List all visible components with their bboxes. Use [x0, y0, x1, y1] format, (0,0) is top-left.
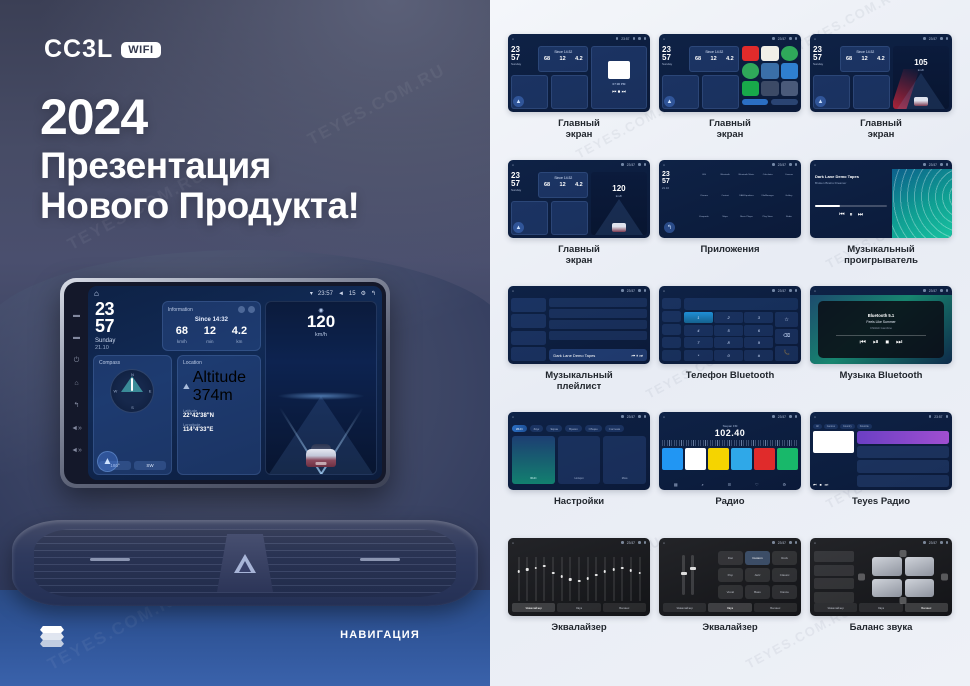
- settings-icon[interactable]: ⚙: [361, 290, 366, 297]
- gallery-item[interactable]: ⌂ 23:57 23 57 21.10: [659, 160, 801, 280]
- preset-jazz[interactable]: Jazz: [745, 568, 770, 582]
- mini-clock-minutes: 57: [662, 178, 670, 185]
- station-row[interactable]: [857, 431, 949, 444]
- card-hotspot[interactable]: Hotspot: [558, 436, 601, 484]
- gallery-item[interactable]: ⌂ 23:57 Bluetooth 5.1 Feels Like Summer …: [810, 286, 952, 406]
- thumb-body: 23 57 Sunday Since 14:32 68 12: [659, 43, 801, 112]
- mini-media-controls: ⏮ ⏹ ⏭: [612, 89, 626, 95]
- navigation-arrow-icon: ▲: [513, 222, 524, 233]
- mini-information-card: Since 14:32 68 12 4.2: [689, 46, 739, 72]
- app-label: Bluetooth Music: [737, 174, 755, 176]
- caption-line1: Главный: [558, 118, 600, 129]
- play-pause-icon[interactable]: ⏯: [873, 339, 879, 347]
- mini-location-card: [551, 75, 588, 109]
- home-icon: ⌂: [512, 415, 514, 419]
- bt-playback-controls[interactable]: ⏮ ⏯ ⏹ ⏭: [860, 339, 903, 347]
- logo-text: CC3L: [44, 35, 113, 64]
- eq-footer-tabs[interactable]: Эквалайзер Звук Баланс: [512, 603, 646, 612]
- settings-icon: [638, 163, 641, 166]
- mini-home: 23 57 Sunday Since 14:32 68 12: [508, 169, 650, 238]
- mini-stat-3: 4.2: [877, 56, 885, 62]
- preset-rock[interactable]: Rock: [772, 551, 797, 565]
- preset-flat[interactable]: Flat: [718, 551, 743, 565]
- expand-icon[interactable]: [248, 306, 255, 313]
- thumbnail-home-apps[interactable]: ⌂ 23:57 23 57: [659, 34, 801, 112]
- gallery-item[interactable]: ⌂ 23:57 Stepan FM 102.40: [659, 412, 801, 532]
- tab-equalizer[interactable]: Эквалайзер: [663, 603, 706, 612]
- home-icon: ⌂: [814, 541, 816, 545]
- next-icon[interactable]: ⏭: [858, 212, 863, 219]
- thumb-body: Эквалайзер Звук Баланс: [508, 547, 650, 616]
- caption-line2: проигрыватель: [844, 255, 918, 266]
- home-icon[interactable]: ⌂: [94, 289, 99, 298]
- thumbnail-home-speed[interactable]: ⌂ 23:57 23 57: [508, 160, 650, 238]
- tab-system[interactable]: Система: [605, 425, 624, 432]
- tab-sound[interactable]: Звук: [708, 603, 751, 612]
- tab-all[interactable]: All: [813, 424, 822, 429]
- home-icon: ⌂: [663, 541, 665, 545]
- band-icon[interactable]: ▦: [674, 482, 678, 487]
- thumb-time: 23:57: [627, 541, 635, 545]
- wifi-icon: [923, 163, 926, 166]
- stat-distance: 4.2 km: [232, 326, 247, 344]
- gallery-item[interactable]: ⌂ 23:57 Dark Lane Demo Tapes Broken Brai…: [810, 160, 952, 280]
- thumbnail-sound-balance[interactable]: ⌂ 23:57: [810, 538, 952, 616]
- sidebar-item-search[interactable]: [662, 324, 681, 335]
- back-icon: [946, 541, 949, 544]
- seat-rear-right[interactable]: [905, 579, 934, 598]
- thumb-status-bar: ⌂ 23:57: [508, 412, 650, 421]
- now-playing-bar[interactable]: Dark Lane Demo Tapes ⏮ ⏸ ⏭: [549, 349, 647, 361]
- navigation-arrow-icon[interactable]: ▲: [97, 451, 118, 472]
- app-label: Wifi: [695, 174, 713, 176]
- eq-band[interactable]: [636, 557, 643, 601]
- tab-sound[interactable]: Звук: [859, 603, 902, 612]
- preset-station[interactable]: [662, 448, 683, 470]
- tab-equalizer[interactable]: Эквалайзер: [814, 603, 857, 612]
- plus-key-icon[interactable]: ▬: [73, 334, 80, 341]
- key-1[interactable]: 1: [684, 312, 713, 323]
- list-icon[interactable]: ☰: [728, 482, 732, 487]
- home-screen-content: 23 57 Sunday 21.10 Information: [88, 301, 382, 480]
- stop-icon[interactable]: ⏹: [886, 339, 890, 347]
- eq-preset-buttons[interactable]: Flat Custom Rock Pop Jazz Classic Vocal …: [718, 551, 797, 599]
- app-label: Radio: [780, 216, 798, 218]
- tab-time[interactable]: Время: [565, 425, 581, 432]
- tab-countries[interactable]: Country: [840, 424, 855, 429]
- preset-bass[interactable]: Bass: [745, 585, 770, 599]
- key-6[interactable]: 6: [744, 325, 773, 336]
- track-row[interactable]: [549, 331, 647, 340]
- balance-left-button[interactable]: [858, 574, 865, 581]
- previous-icon[interactable]: ⏮: [813, 482, 817, 487]
- thumbnail-radio[interactable]: ⌂ 23:57 Stepan FM 102.40: [659, 412, 801, 490]
- thumbnail-apps[interactable]: ⌂ 23:57 23 57 21.10: [659, 160, 801, 238]
- back-icon: ↰: [664, 222, 675, 233]
- hazard-triangle-icon: [234, 554, 256, 573]
- preset-station[interactable]: [708, 448, 729, 470]
- eq-band[interactable]: [575, 557, 582, 601]
- gallery-item[interactable]: ⌂ 23:57 Wi-Fi Звук Экран Время: [508, 412, 650, 532]
- eq-band[interactable]: [550, 557, 557, 601]
- thumb-body: 23 57 Sunday Since 14:32 68 12: [508, 43, 650, 112]
- mini-home: 23 57 Sunday Since 14:32 68 12: [810, 43, 952, 112]
- eq-band[interactable]: [601, 557, 608, 601]
- seat-front-left[interactable]: [872, 557, 901, 576]
- wifi-icon: [616, 37, 619, 40]
- radio-tuning-scale[interactable]: [662, 440, 798, 446]
- caption-line1: Эквалайзер: [702, 622, 757, 633]
- preset-center[interactable]: [814, 592, 854, 603]
- tab-general[interactable]: Общие: [585, 425, 602, 432]
- thumbnail-playlist[interactable]: ⌂ 23:57: [508, 286, 650, 364]
- home-icon: ⌂: [663, 163, 665, 167]
- eq-slider-right[interactable]: [691, 555, 694, 595]
- bt-progress-bar[interactable]: [836, 335, 927, 336]
- sidebar-item-settings[interactable]: [662, 350, 681, 361]
- key-4[interactable]: 4: [684, 325, 713, 336]
- settings-icon: [638, 541, 641, 544]
- preset-front[interactable]: [814, 551, 854, 562]
- mini-stat-2: 12: [560, 182, 566, 188]
- sidebar-item-dialpad[interactable]: [662, 298, 681, 309]
- preset-rear[interactable]: [814, 565, 854, 576]
- favorite-icon[interactable]: ☆: [775, 312, 798, 327]
- thumb-status-bar: ⌂ 23:57: [810, 538, 952, 547]
- back-key-icon[interactable]: ↰: [74, 402, 80, 409]
- track-row[interactable]: [549, 309, 647, 318]
- stat-distance-unit: km: [232, 339, 247, 344]
- speed-panel[interactable]: ◉ 120 km/h: [265, 301, 377, 475]
- gallery-caption: Музыка Bluetooth: [840, 370, 923, 381]
- key-5[interactable]: 5: [714, 325, 743, 336]
- thumb-body: Wi-Fi Звук Экран Время Общие Система Wi-…: [508, 421, 650, 490]
- mini-music-player: Dark Lane Demo Tapes Broken Brains Dream…: [810, 169, 952, 238]
- information-card-actions[interactable]: [238, 306, 255, 313]
- thumbnail-home-speed-red[interactable]: ⌂ 23:57 23 57: [810, 34, 952, 112]
- gallery-item[interactable]: ⌂ 23:57 23: [508, 34, 650, 154]
- key-0[interactable]: 0: [714, 350, 743, 361]
- card-wifi[interactable]: Wi-Fi: [512, 436, 555, 484]
- station-row[interactable]: [857, 460, 949, 473]
- location-card[interactable]: Location ⛰ Altitude 374m: [177, 355, 261, 475]
- car-license-plate: [316, 462, 327, 465]
- bt-track-artist: Childish Gambino: [870, 326, 892, 330]
- playback-controls[interactable]: ⏮ ⏸ ⏭: [632, 353, 643, 358]
- progress-bar[interactable]: [815, 205, 887, 207]
- previous-icon[interactable]: ⏮: [839, 212, 844, 219]
- app-label: Chrome: [695, 195, 713, 197]
- wifi-icon: [929, 415, 932, 418]
- eq-band[interactable]: [627, 557, 634, 601]
- balance-up-button[interactable]: [900, 550, 907, 557]
- app-label: Play Store: [759, 216, 777, 218]
- power-key-icon[interactable]: ⏻: [74, 357, 80, 364]
- back-icon: [644, 415, 647, 418]
- eq-band[interactable]: [515, 557, 522, 601]
- caption-line1: Баланс звука: [850, 622, 913, 633]
- eq-band[interactable]: [558, 557, 565, 601]
- head-unit-screen[interactable]: ⌂ ▾ 23:57 ◄ 15 ⚙ ↰ 23: [88, 286, 382, 480]
- home-icon: ⌂: [814, 415, 816, 419]
- bt-music-card: Bluetooth 5.1 Feels Like Summer Childish…: [818, 301, 944, 358]
- gallery-caption: Музыкальный плейлист: [545, 370, 613, 392]
- playback-controls[interactable]: ⏮ ⏸ ⏭: [815, 212, 887, 219]
- balance-field[interactable]: [858, 551, 948, 603]
- settings-icon: [940, 541, 943, 544]
- key-8[interactable]: 8: [714, 337, 743, 348]
- screens-gallery: TEYES.COM.RU TEYES.COM.RU TEYES.COM.RU T…: [490, 0, 970, 686]
- thumb-body: Bluetooth 5.1 Feels Like Summer Childish…: [810, 295, 952, 364]
- key-hash[interactable]: #: [744, 350, 773, 361]
- eq-footer-tabs[interactable]: Эквалайзер Звук Баланс: [663, 603, 797, 612]
- preset-station[interactable]: [731, 448, 752, 470]
- gallery-caption: Музыкальный проигрыватель: [844, 244, 918, 266]
- mini-media-widget: 07:30 PM ⏮ ⏹ ⏭: [591, 46, 647, 109]
- eq-band[interactable]: [567, 557, 574, 601]
- back-icon[interactable]: ↰: [371, 290, 376, 297]
- gallery-item[interactable]: ⌂ 23:57: [508, 286, 650, 406]
- eq-preset-main: Flat Custom Rock Pop Jazz Classic Vocal …: [663, 551, 797, 599]
- radio-toolbar[interactable]: ▦ ⌕ ☰ ♡ ⚙: [662, 482, 798, 487]
- minus-key-icon[interactable]: ▬: [73, 312, 80, 319]
- thumb-time: 23:57: [778, 541, 786, 545]
- preset-classic[interactable]: Classic: [772, 568, 797, 582]
- thumbnail-settings[interactable]: ⌂ 23:57 Wi-Fi Звук Экран Время: [508, 412, 650, 490]
- mini-clock: 23 57 Sunday: [662, 46, 687, 72]
- thumbnail-teyes-radio[interactable]: ⌂ 23:57 All Genres Country Favorite: [810, 412, 952, 490]
- tab-sound[interactable]: Звук: [530, 425, 544, 432]
- mini-equalizer-bands: Эквалайзер Звук Баланс: [508, 547, 650, 616]
- sidebar-item[interactable]: [511, 298, 546, 312]
- back-icon: [644, 541, 647, 544]
- key-3[interactable]: 3: [744, 312, 773, 323]
- next-icon[interactable]: ⏭: [825, 482, 829, 487]
- tab-display[interactable]: Экран: [546, 425, 562, 432]
- gallery-grid: ⌂ 23:57 23: [508, 34, 952, 658]
- balance-presets[interactable]: [814, 551, 854, 603]
- speed-value: 120: [266, 313, 376, 330]
- settings-icon[interactable]: ⚙: [782, 482, 786, 487]
- thumbnail-home-media[interactable]: ⌂ 23:57 23: [508, 34, 650, 112]
- search-icon[interactable]: ⌕: [702, 482, 704, 487]
- eq-band[interactable]: [532, 557, 539, 601]
- thumb-time: 23:57: [778, 163, 786, 167]
- gallery-item[interactable]: ⌂ 23:57 23 57: [810, 34, 952, 154]
- wifi-icon: [772, 541, 775, 544]
- gallery-item[interactable]: ⌂ 23:57: [659, 286, 801, 406]
- preset-custom[interactable]: Custom: [745, 551, 770, 565]
- balance-right-button[interactable]: [941, 574, 948, 581]
- app-icon: [761, 63, 778, 78]
- tab-sound[interactable]: Звук: [557, 603, 600, 612]
- eq-level-sliders[interactable]: [663, 551, 714, 599]
- balance-main: [814, 551, 948, 603]
- thumb-status-bar: ⌂ 23:57: [659, 286, 801, 295]
- eq-band-sliders[interactable]: [512, 551, 646, 603]
- head-unit-side-keys[interactable]: ▬ ▬ ⏻ ⌂ ↰ ◄» ◄»: [68, 286, 85, 480]
- thumbnail-equalizer-bands[interactable]: ⌂ 23:57: [508, 538, 650, 616]
- gallery-item[interactable]: ⌂ 23:57 All Genres Country Favorite: [810, 412, 952, 532]
- thumb-body: Dark Lane Demo Tapes Broken Brains Dream…: [810, 169, 952, 238]
- caption-line1: Эквалайзер: [551, 622, 606, 633]
- thumb-status-bar: ⌂ 23:57: [508, 34, 650, 43]
- thumb-body: Flat Custom Rock Pop Jazz Classic Vocal …: [659, 547, 801, 616]
- eq-band[interactable]: [619, 557, 626, 601]
- mini-speed-panel: 105 km/h: [893, 46, 949, 109]
- playlist-sidebar[interactable]: [511, 298, 546, 361]
- station-list[interactable]: [857, 431, 949, 487]
- eq-band[interactable]: [541, 557, 548, 601]
- preset-dance[interactable]: Dance: [772, 585, 797, 599]
- playlist-tracks[interactable]: Dark Lane Demo Tapes ⏮ ⏸ ⏭: [549, 298, 647, 361]
- app-label: FileManager: [759, 195, 777, 197]
- call-icon[interactable]: 📞: [775, 346, 798, 361]
- sidebar-item[interactable]: [511, 314, 546, 328]
- track-artist: Broken Brains Dreamer: [815, 181, 887, 185]
- key-9[interactable]: 9: [744, 337, 773, 348]
- preset-pop[interactable]: Pop: [718, 568, 743, 582]
- tab-genres[interactable]: Genres: [824, 424, 838, 429]
- settings-icon: [789, 415, 792, 418]
- dialpad-keys[interactable]: 1 2 3 4 5 6 7 8 9 *: [684, 312, 773, 361]
- eq-band[interactable]: [584, 557, 591, 601]
- gallery-item[interactable]: ⌂ 23:57: [508, 538, 650, 658]
- pause-icon[interactable]: ⏸: [850, 212, 853, 219]
- eq-band[interactable]: [610, 557, 617, 601]
- key-2[interactable]: 2: [714, 312, 743, 323]
- mini-app-shortcuts: [742, 46, 798, 109]
- thumb-time: 23:57: [929, 163, 937, 167]
- gallery-item[interactable]: ⌂ 23:57 23 57: [659, 34, 801, 154]
- dialpad-actions[interactable]: ☆ ⌫ 📞: [775, 312, 798, 361]
- mini-information-card: Since 14:32 68 12 4.2: [840, 46, 890, 72]
- thumbnail-music-player[interactable]: ⌂ 23:57 Dark Lane Demo Tapes Broken Brai…: [810, 160, 952, 238]
- thumbnail-equalizer-presets[interactable]: ⌂ 23:57: [659, 538, 801, 616]
- balance-down-button[interactable]: [900, 597, 907, 604]
- altitude-value: 374m: [193, 387, 246, 405]
- gallery-item[interactable]: ⌂ 23:57: [810, 538, 952, 658]
- layers-icon-bottom: [40, 640, 64, 647]
- preset-station[interactable]: [777, 448, 798, 470]
- vol-down-key-icon[interactable]: ◄»: [71, 425, 82, 432]
- key-7[interactable]: 7: [684, 337, 713, 348]
- hero-footer-label: НАВИГАЦИЯ: [340, 629, 420, 641]
- eq-band[interactable]: [593, 557, 600, 601]
- caption-line1: Главный: [558, 244, 600, 255]
- seat-rear-left[interactable]: [872, 579, 901, 598]
- settings-icon: [789, 163, 792, 166]
- track-row[interactable]: [549, 320, 647, 329]
- radio-presets[interactable]: [662, 448, 798, 470]
- tab-equalizer[interactable]: Эквалайзер: [512, 603, 555, 612]
- compass-dial: N S W E: [110, 369, 154, 413]
- stop-icon[interactable]: ⏹: [820, 482, 822, 487]
- mini-clock-day: Sunday: [662, 63, 687, 66]
- mini-stats: 68 12 4.2: [841, 54, 889, 62]
- gallery-item[interactable]: ⌂ 23:57 23 57: [508, 160, 650, 280]
- mini-stat-2: 12: [862, 56, 868, 62]
- track-row[interactable]: [549, 298, 647, 307]
- backspace-icon[interactable]: ⌫: [775, 329, 798, 344]
- mini-clock-date: 21.10: [662, 187, 692, 190]
- eq-slider-left[interactable]: [682, 555, 685, 595]
- sidebar-item[interactable]: [511, 347, 546, 361]
- app-label: Maps: [716, 216, 734, 218]
- thumb-time: 23:57: [934, 415, 942, 419]
- thumb-status-bar: ⌂ 23:57: [810, 160, 952, 169]
- radio-frequency: 102.40: [662, 428, 798, 438]
- preset-all[interactable]: [814, 578, 854, 589]
- next-icon[interactable]: ⏭: [896, 339, 902, 347]
- now-playing-title: Dark Lane Demo Tapes: [553, 353, 595, 358]
- preset-station[interactable]: [685, 448, 706, 470]
- previous-icon[interactable]: ⏮: [860, 339, 866, 347]
- clock-widget: 23 57 Sunday 21.10: [93, 301, 157, 351]
- settings-tabs[interactable]: Wi-Fi Звук Экран Время Общие Система: [512, 425, 646, 432]
- information-card[interactable]: Information Since 14:32: [162, 301, 261, 351]
- tab-balance[interactable]: Баланс: [754, 603, 797, 612]
- tab-balance[interactable]: Баланс: [905, 603, 948, 612]
- mini-teyes-radio: All Genres Country Favorite ⏮: [810, 421, 952, 490]
- eq-band[interactable]: [524, 557, 531, 601]
- thumb-status-bar: ⌂ 23:57: [659, 538, 801, 547]
- teyes-tabs[interactable]: All Genres Country Favorite: [813, 424, 949, 429]
- thumbnail-bluetooth-music[interactable]: ⌂ 23:57 Bluetooth 5.1 Feels Like Summer …: [810, 286, 952, 364]
- preset-station[interactable]: [754, 448, 775, 470]
- phone-sidebar[interactable]: [662, 298, 681, 361]
- settings-cards[interactable]: Wi-Fi Hotspot More: [512, 436, 646, 484]
- playback-controls[interactable]: ⏮ ⏹ ⏭: [813, 482, 854, 487]
- app-grid: Wifi Bluetooth Bluetooth Music Calculato…: [695, 172, 798, 235]
- thumbnail-bluetooth-phone[interactable]: ⌂ 23:57: [659, 286, 801, 364]
- station-row[interactable]: [857, 446, 949, 459]
- preset-vocal[interactable]: Vocal: [718, 585, 743, 599]
- refresh-icon[interactable]: [238, 306, 245, 313]
- status-time: 23:57: [318, 291, 333, 297]
- tab-favorites[interactable]: Favorite: [857, 424, 872, 429]
- sidebar-item[interactable]: [511, 331, 546, 345]
- card-more[interactable]: More: [603, 436, 646, 484]
- mini-clock-minutes: 57: [813, 53, 822, 62]
- mini-clock-minutes: 57: [511, 53, 520, 62]
- vol-up-key-icon[interactable]: ◄»: [71, 447, 82, 454]
- wifi-icon: [772, 415, 775, 418]
- layers-icon-top: [40, 626, 64, 633]
- eq-footer-tabs[interactable]: Эквалайзер Звук Баланс: [814, 603, 948, 612]
- volume-icon: [633, 37, 636, 40]
- thumb-time: 23:57: [778, 415, 786, 419]
- favorite-icon[interactable]: ♡: [755, 482, 759, 487]
- key-star[interactable]: *: [684, 350, 713, 361]
- thumb-body: 23 57 21.10 Wifi Bluetooth Bluetooth Mus…: [659, 169, 801, 238]
- tab-balance[interactable]: Баланс: [603, 603, 646, 612]
- tab-wifi[interactable]: Wi-Fi: [512, 425, 527, 432]
- app-label: Gallery: [780, 195, 798, 197]
- app-icon: [742, 63, 759, 78]
- home-key-icon[interactable]: ⌂: [74, 380, 78, 387]
- seat-front-right[interactable]: [905, 557, 934, 576]
- mini-stat-1: 68: [544, 56, 550, 62]
- clock-day: Sunday: [95, 337, 157, 345]
- settings-icon: [638, 289, 641, 292]
- sidebar-item-contacts[interactable]: [662, 311, 681, 322]
- gallery-caption: Teyes Радио: [852, 496, 910, 507]
- sidebar-item-recent[interactable]: [662, 337, 681, 348]
- app-label: Bluetooth: [716, 174, 734, 176]
- gallery-item[interactable]: ⌂ 23:57: [659, 538, 801, 658]
- station-row[interactable]: [857, 475, 949, 488]
